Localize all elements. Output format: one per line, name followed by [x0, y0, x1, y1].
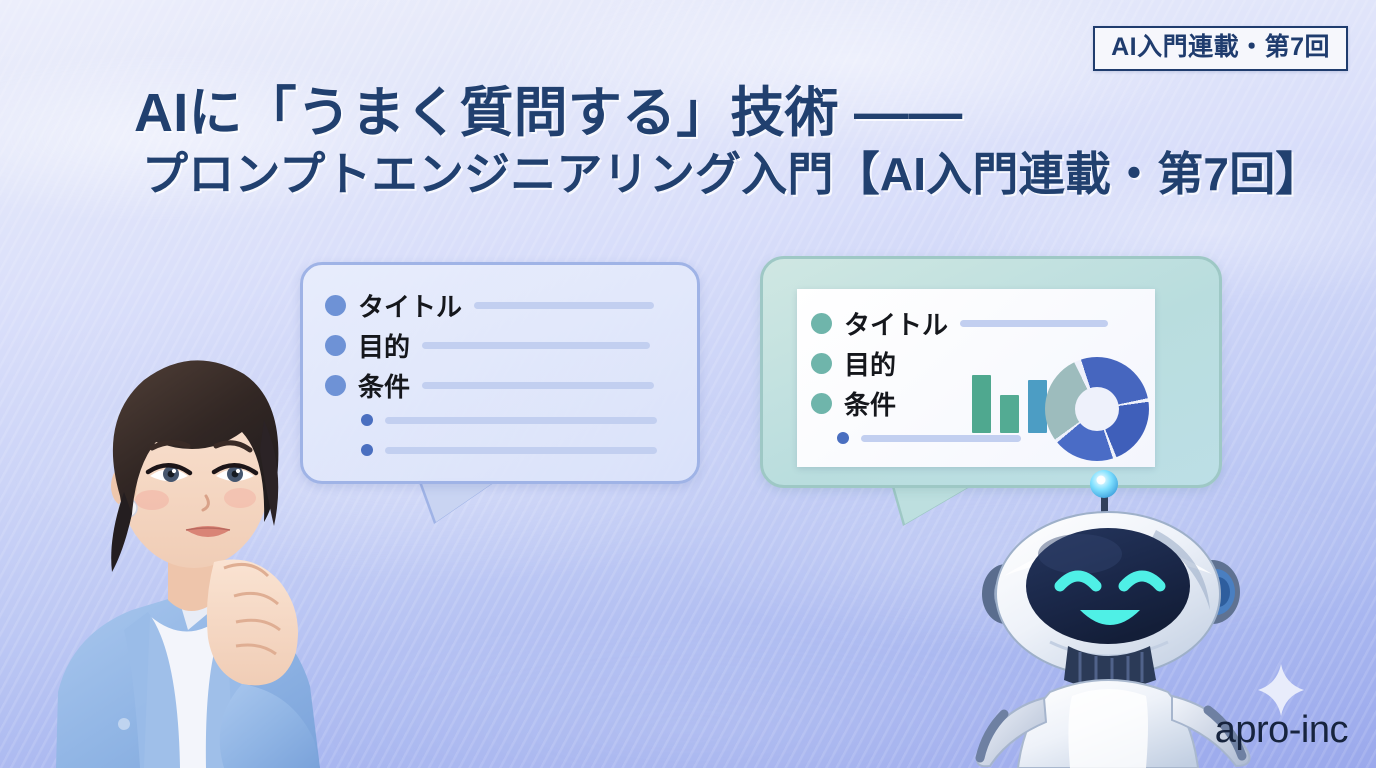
placeholder-line — [385, 417, 657, 424]
logo-text: apro-inc — [1215, 710, 1348, 750]
speech-bubble-left: タイトル 目的 条件 — [300, 262, 700, 484]
list-item: タイトル — [811, 303, 1108, 343]
blazer-button — [118, 718, 130, 730]
antenna-light-icon — [1090, 470, 1118, 498]
list-item — [325, 435, 657, 465]
list-item: タイトル — [325, 285, 657, 325]
bullet-dot-icon — [361, 444, 373, 456]
woman-illustration — [28, 300, 358, 768]
bullet-dot-icon — [811, 393, 832, 414]
speech-bubble-left-tail — [420, 478, 500, 522]
bullet-dot-icon — [811, 353, 832, 374]
bar-segment — [972, 375, 991, 433]
list-item-label: タイトル — [844, 305, 948, 342]
list-item-label: 条件 — [844, 385, 896, 422]
blush-right — [224, 488, 256, 508]
series-badge: AI入門連載・第7回 — [1093, 26, 1348, 71]
bullet-dot-icon — [837, 432, 849, 444]
hero-banner: AI入門連載・第7回 AIに「うまく質問する」技術 —— プロンプトエンジニアリ… — [0, 0, 1376, 768]
page-title: AIに「うまく質問する」技術 —— プロンプトエンジニアリング入門【AI入門連載… — [134, 82, 1322, 204]
bullet-dot-icon — [811, 313, 832, 334]
prompt-checklist-left: タイトル 目的 条件 — [325, 285, 657, 465]
list-item-label: タイトル — [358, 287, 462, 324]
list-item — [325, 405, 657, 435]
sparkle-icon — [1258, 664, 1304, 716]
list-item: 目的 — [325, 325, 657, 365]
title-line-2: プロンプトエンジニアリング入門【AI入門連載・第7回】 — [134, 144, 1322, 204]
blush-left — [135, 490, 169, 510]
placeholder-line — [385, 447, 657, 454]
placeholder-line — [422, 382, 654, 389]
bar-segment — [1000, 395, 1019, 433]
bar-chart — [972, 353, 1047, 433]
placeholder-line — [422, 342, 650, 349]
list-item-label: 条件 — [358, 367, 410, 404]
result-card: タイトル 目的 条件 — [797, 289, 1155, 467]
hand — [207, 560, 298, 686]
placeholder-line — [960, 320, 1108, 327]
brand-logo: apro-inc — [1215, 710, 1348, 750]
list-item: 条件 — [325, 365, 657, 405]
speech-bubble-right: タイトル 目的 条件 — [760, 256, 1222, 488]
placeholder-line — [474, 302, 654, 309]
robot-chest-plate — [1068, 689, 1148, 768]
list-item-label: 目的 — [358, 327, 410, 364]
list-item-label: 目的 — [844, 345, 896, 382]
title-line-1: AIに「うまく質問する」技術 —— — [134, 82, 1322, 144]
bullet-dot-icon — [361, 414, 373, 426]
placeholder-line — [861, 435, 1021, 442]
donut-chart — [1045, 357, 1149, 461]
